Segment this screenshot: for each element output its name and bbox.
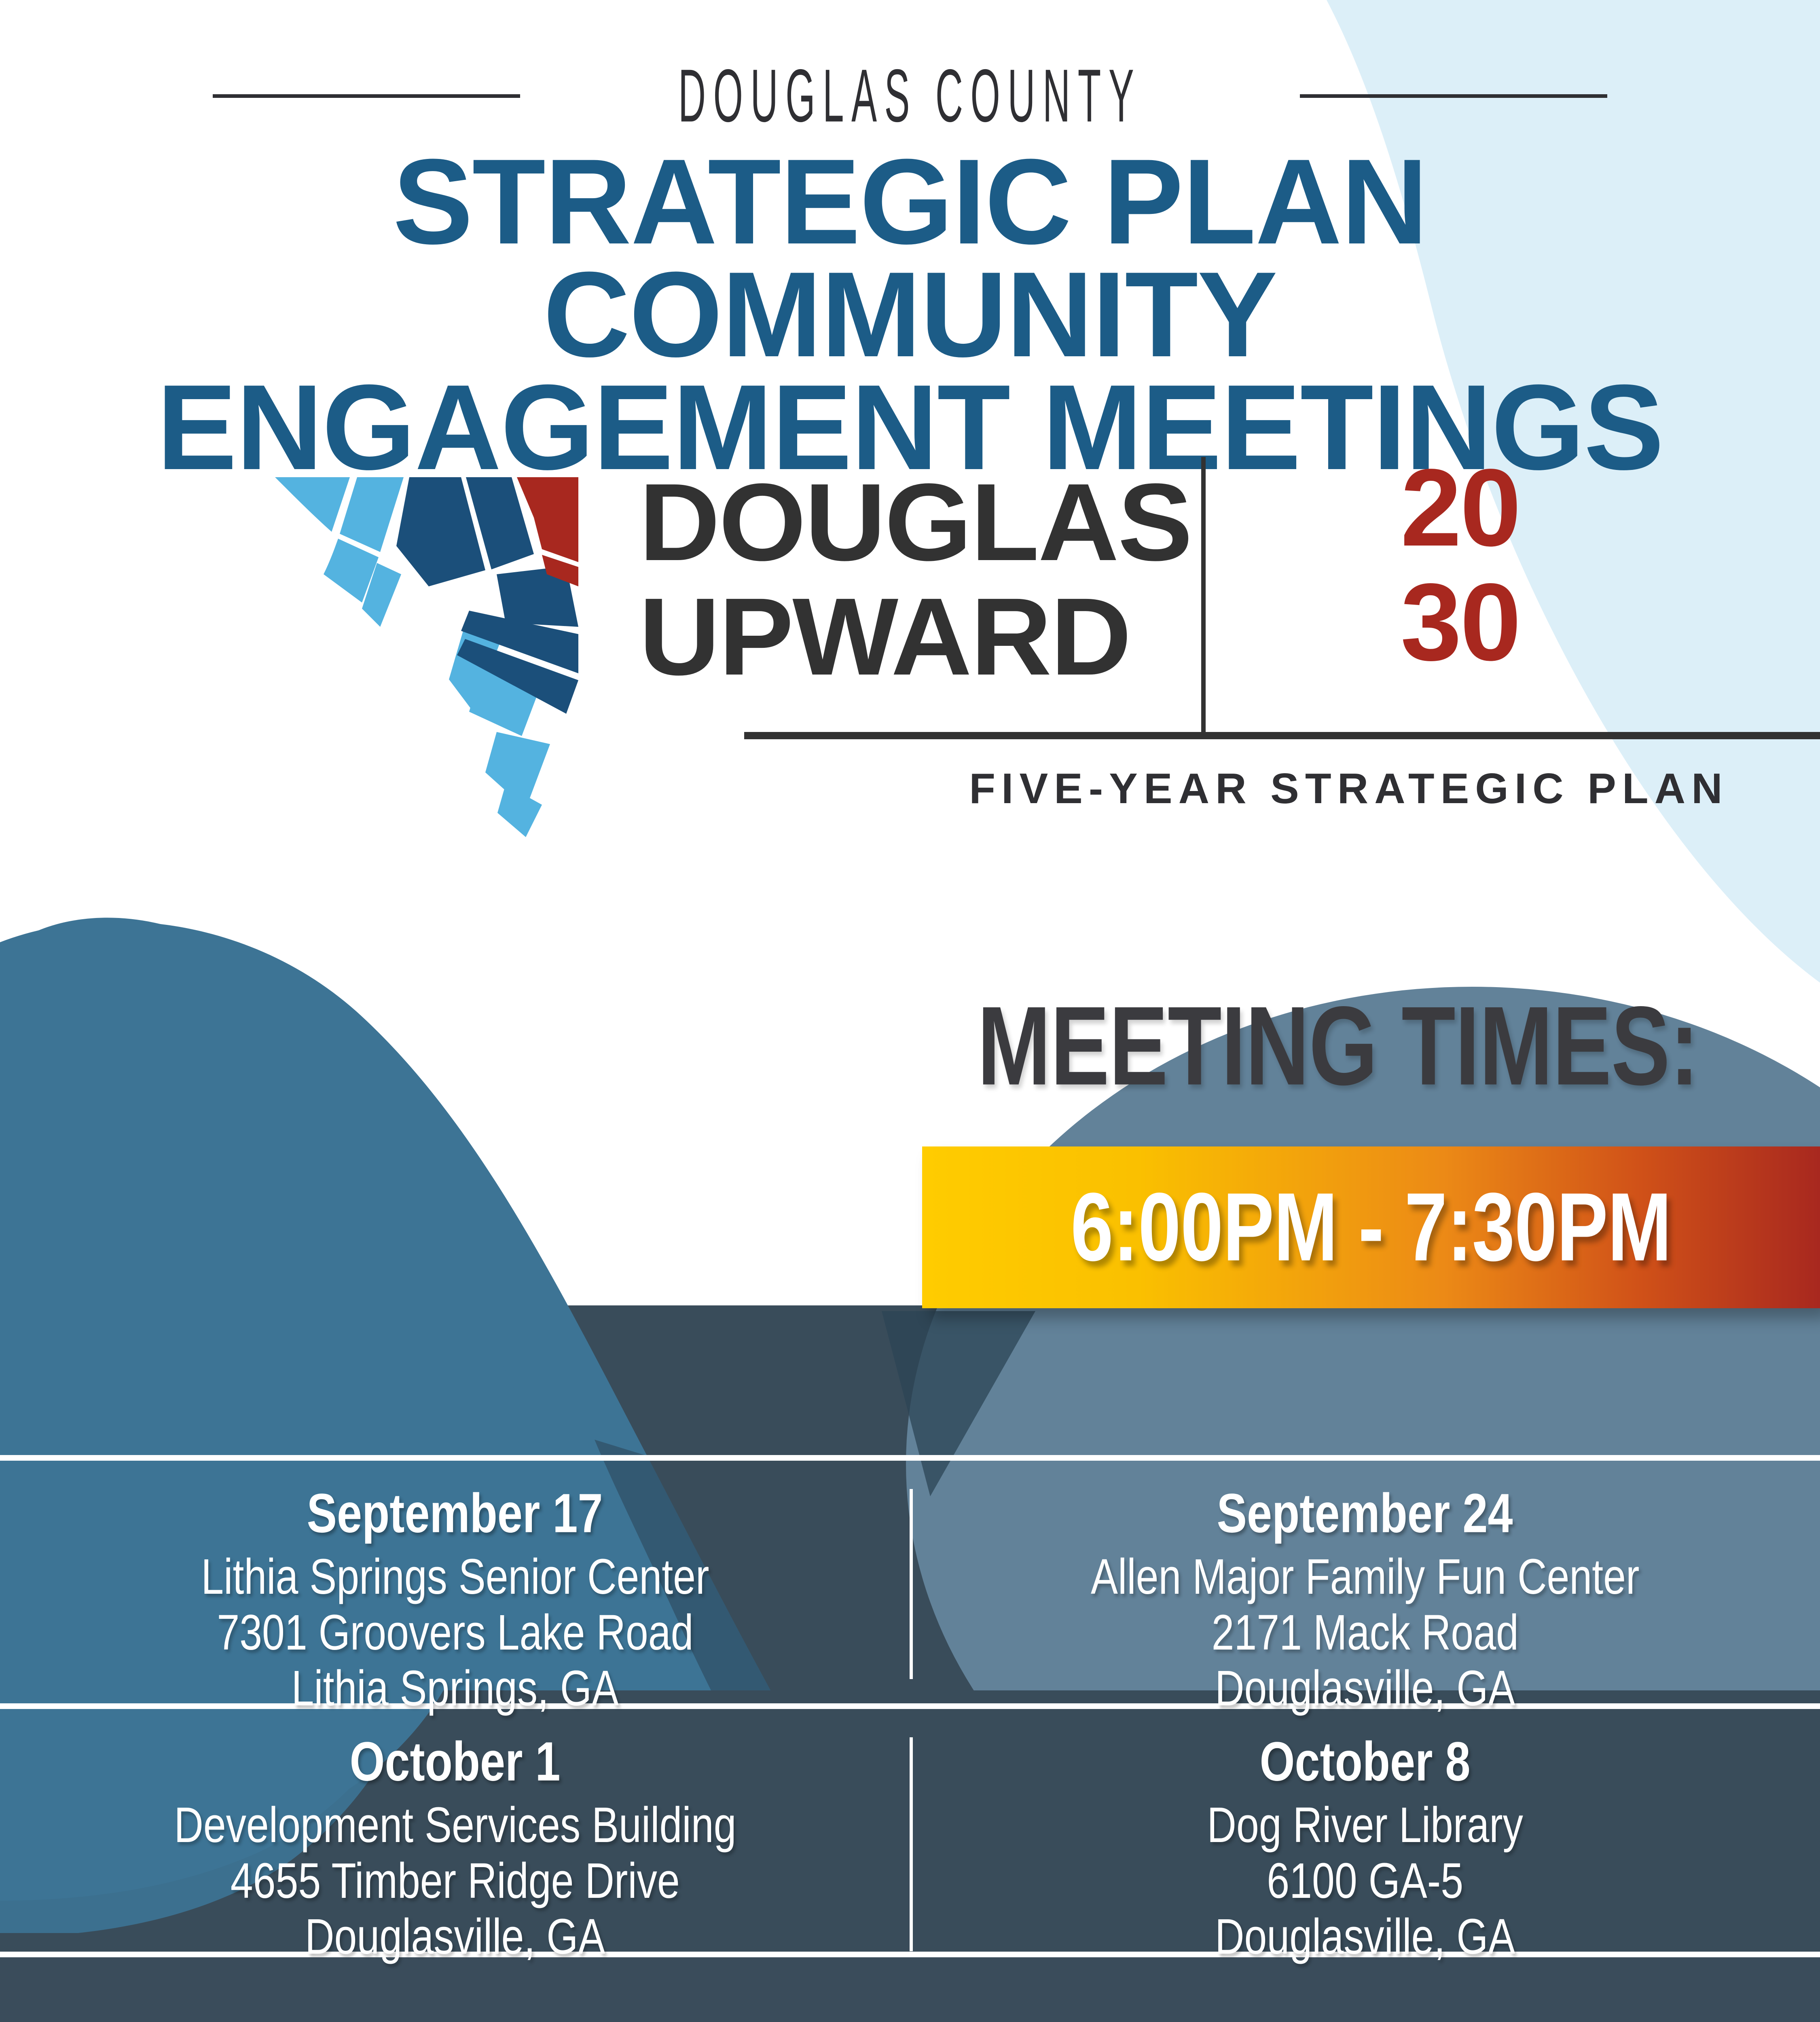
- grid-rule-vertical-2: [910, 1737, 913, 1927]
- meeting-venue: Dog River Library: [1207, 1793, 1523, 1857]
- grid-rule-middle: [0, 1703, 1820, 1709]
- kicker-label: DOUGLAS COUNTY: [678, 53, 1141, 140]
- kicker-row: DOUGLAS COUNTY: [0, 61, 1820, 131]
- angular-wedge-icon: [259, 453, 590, 837]
- meeting-venue: Lithia Springs Senior Center: [201, 1545, 709, 1609]
- poster-header: DOUGLAS COUNTY STRATEGIC PLAN COMMUNITY …: [0, 0, 1820, 484]
- poster-footer: LET YOUR VOICE BE HEARD DOUGLAS COUNTY G…: [0, 1956, 1820, 2022]
- meeting-street: 6100 GA-5: [1267, 1849, 1463, 1913]
- meeting-street: 7301 Groovers Lake Road: [217, 1601, 693, 1665]
- logo-vertical-rule: [1201, 457, 1206, 732]
- meeting-card-1: September 17 Lithia Springs Senior Cente…: [0, 1461, 910, 1703]
- logo-tagline: FIVE-YEAR STRATEGIC PLAN: [744, 764, 1820, 813]
- kicker-rule-right: [1300, 94, 1607, 98]
- meeting-times-heading: MEETING TIMES:: [977, 981, 1699, 1110]
- logo-year-top: 20: [1355, 451, 1565, 565]
- meeting-times-bar: 6:00PM - 7:30PM: [922, 1146, 1820, 1308]
- logo-mark-icon: [259, 453, 590, 837]
- logo-year-block: 20 30: [1355, 451, 1565, 679]
- meeting-street: 2171 Mack Road: [1211, 1601, 1518, 1665]
- meetings-grid: September 17 Lithia Springs Senior Cente…: [0, 1455, 1820, 1957]
- page-title: STRATEGIC PLAN COMMUNITY ENGAGEMENT MEET…: [9, 145, 1811, 484]
- meeting-date: September 24: [1217, 1483, 1513, 1544]
- meeting-card-4: October 8 Dog River Library 6100 GA-5 Do…: [910, 1709, 1820, 1952]
- grid-rule-vertical-1: [910, 1489, 913, 1679]
- logo-horizontal-rule: [744, 732, 1820, 739]
- meeting-date: October 8: [1260, 1731, 1471, 1792]
- meeting-venue: Development Services Building: [174, 1793, 736, 1857]
- meetings-row-1: September 17 Lithia Springs Senior Cente…: [0, 1461, 1820, 1703]
- meeting-street: 4655 Timber Ridge Drive: [231, 1849, 680, 1913]
- meeting-card-3: October 1 Development Services Building …: [0, 1709, 910, 1952]
- logo-wordmark: DOUGLAS UPWARD 20 30: [590, 453, 1594, 694]
- meetings-row-2: October 1 Development Services Building …: [0, 1709, 1820, 1952]
- meeting-card-2: September 24 Allen Major Family Fun Cent…: [910, 1461, 1820, 1703]
- grid-rule-top: [0, 1455, 1820, 1461]
- meeting-venue: Allen Major Family Fun Center: [1091, 1545, 1639, 1609]
- meeting-date: October 1: [350, 1731, 561, 1792]
- kicker-rule-left: [213, 94, 520, 98]
- meeting-date: September 17: [307, 1483, 603, 1544]
- page-title-line-1: STRATEGIC PLAN COMMUNITY: [393, 133, 1427, 382]
- meeting-times-value: 6:00PM - 7:30PM: [1071, 1172, 1671, 1283]
- logo-year-bottom: 30: [1355, 565, 1565, 679]
- douglas-upward-logo: DOUGLAS UPWARD 20 30 FIVE-YEAR STRATEGIC…: [259, 453, 1594, 849]
